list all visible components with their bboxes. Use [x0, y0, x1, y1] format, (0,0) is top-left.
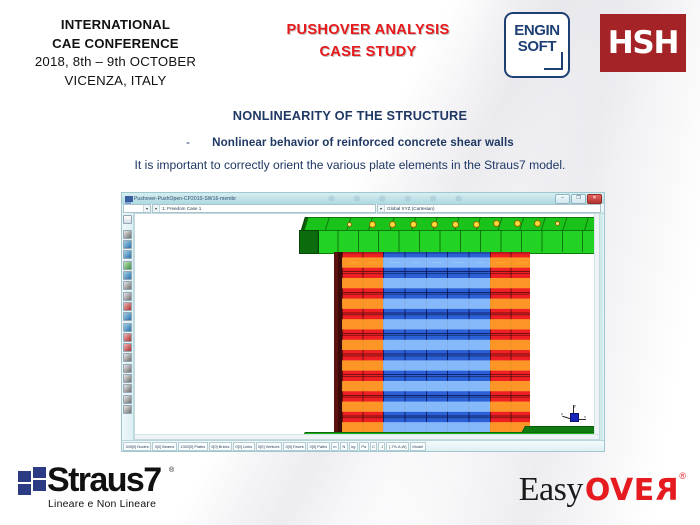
- status-cell-vertices: 0[0] Vertices: [256, 442, 282, 451]
- brick-icon[interactable]: [123, 261, 132, 270]
- conference-dates: 2018, 8th – 9th OCTOBER: [8, 53, 223, 72]
- attribute-icon[interactable]: [123, 364, 132, 373]
- home-icon[interactable]: [123, 405, 132, 414]
- straus7-logo-square: [33, 480, 46, 491]
- straus7-logo-wordmark: Straus7: [47, 461, 161, 500]
- minimize-button[interactable]: –: [555, 194, 570, 204]
- section-heading: NONLINEARITY OF THE STRUCTURE: [0, 108, 700, 123]
- coordinate-system-label: Global XYZ (Cartesian): [385, 206, 435, 211]
- status-cell-mode: Model: [410, 442, 426, 451]
- plate-local-axis-arrows: [342, 252, 383, 437]
- model-viewport[interactable]: y x z: [134, 213, 600, 440]
- status-cell-plates: 1392[0] Plates: [178, 442, 208, 451]
- left-vertical-toolbar[interactable]: [122, 213, 134, 440]
- shear-wall-mesh[interactable]: [334, 252, 530, 437]
- status-cell-beams: 3[0] Beams: [152, 442, 177, 451]
- property-icon[interactable]: [123, 353, 132, 362]
- easyover-registered-mark: ®: [679, 471, 686, 481]
- status-cell-unit-stress: Pa: [359, 442, 369, 451]
- straus7-registered-mark: ®: [169, 467, 174, 474]
- pressure-icon[interactable]: [123, 333, 132, 342]
- enginsoft-logo: ENGIN SOFT: [504, 12, 570, 78]
- window-controls[interactable]: – ❐ ✕: [554, 194, 602, 204]
- chevron-down-icon[interactable]: ▾: [153, 205, 160, 212]
- axis-label-z: z: [561, 412, 563, 416]
- slide-header: INTERNATIONAL CAE CONFERENCE 2018, 8th –…: [0, 0, 700, 95]
- freedom-icon[interactable]: [123, 384, 132, 393]
- view-combo[interactable]: ▾: [123, 204, 151, 213]
- beam-front-mesh-grid: [317, 230, 600, 252]
- node-marker: [347, 222, 352, 227]
- vertical-scrollbar[interactable]: [594, 214, 599, 439]
- status-cell-view-info: [-7%,A,W]: [386, 442, 409, 451]
- status-cell-unit-length: m: [331, 442, 339, 451]
- status-bar: 349[0] Nodes 3[0] Beams 1392[0] Plates 0…: [122, 440, 604, 451]
- vertex-icon[interactable]: [123, 281, 132, 290]
- status-cell-unit-temp: C: [370, 442, 378, 451]
- easyover-logo-flipped-r: R: [655, 473, 679, 508]
- status-cell-unit-force: N: [340, 442, 348, 451]
- coordinate-system-combo[interactable]: ▾ Global XYZ (Cartesian): [377, 204, 601, 213]
- slide-footer: Straus7 ® Lineare e Non Lineare Easy OVE…: [0, 455, 700, 525]
- link-icon[interactable]: [123, 271, 132, 280]
- plate-local-axis-arrows: [490, 252, 530, 437]
- horizontal-scrollbar[interactable]: [135, 434, 599, 439]
- plate-icon[interactable]: [123, 250, 132, 259]
- plate-local-axis-arrows: [383, 252, 490, 437]
- restraint-icon[interactable]: [123, 302, 132, 311]
- wall-center-blue-panel: [383, 252, 490, 437]
- conference-location: VICENZA, ITALY: [8, 72, 223, 91]
- beam-left-end-face: [299, 230, 319, 254]
- status-cell-faces: 0[0] Faces: [283, 442, 306, 451]
- status-cell-nodes: 349[0] Nodes: [123, 442, 151, 451]
- window-title: Pushover-PushOpen-CP2010-SW16-membr: [134, 196, 236, 202]
- node-marker: [555, 221, 560, 226]
- face-icon[interactable]: [123, 292, 132, 301]
- status-cell-bricks: 0[0] Bricks: [209, 442, 232, 451]
- axis-triad-indicator: y x z: [561, 405, 587, 425]
- straus7-logo-square: [18, 484, 31, 495]
- freedom-case-label: 1: Freedom Case 1: [160, 206, 201, 211]
- presentation-title: PUSHOVER ANALYSIS CASE STUDY: [252, 20, 484, 64]
- toolbar-separator: [122, 226, 133, 229]
- wall-right-red-column: [490, 252, 530, 437]
- window-titlebar[interactable]: Pushover-PushOpen-CP2010-SW16-membr – ❐ …: [122, 193, 604, 204]
- axis-label-y: y: [574, 404, 576, 408]
- enginsoft-logo-notch: [544, 52, 563, 70]
- status-cell-links: 0[0] Links: [233, 442, 255, 451]
- straus7-logo-square: [18, 471, 31, 482]
- bullet-text: Nonlinear behavior of reinforced concret…: [212, 136, 514, 149]
- easyover-logo-easy: Easy: [519, 471, 583, 509]
- status-cell-paths: 0[0] Paths: [307, 442, 330, 451]
- conference-info: INTERNATIONAL CAE CONFERENCE 2018, 8th –…: [8, 16, 223, 91]
- group-icon[interactable]: [123, 395, 132, 404]
- straus7-app-icon: [125, 196, 131, 202]
- bullet-line: -Nonlinear behavior of reinforced concre…: [0, 136, 700, 149]
- easyover-logo-over: OVER: [585, 473, 679, 508]
- status-cell-unit-mass: kg: [349, 442, 358, 451]
- axis-label-x: x: [584, 415, 586, 419]
- bullet-dash: -: [186, 136, 212, 149]
- freedom-case-combo[interactable]: ▾ 1: Freedom Case 1: [152, 204, 376, 213]
- easyover-logo-over-text: OVE: [585, 473, 655, 508]
- slide-body-text: NONLINEARITY OF THE STRUCTURE -Nonlinear…: [0, 108, 700, 172]
- conference-line-2: CAE CONFERENCE: [8, 35, 223, 54]
- chevron-down-icon[interactable]: ▾: [378, 205, 385, 212]
- status-cell-unit-energy: J: [378, 442, 385, 451]
- moment-icon[interactable]: [123, 323, 132, 332]
- select-icon[interactable]: [123, 215, 132, 224]
- easyover-logo: Easy OVER ®: [519, 471, 686, 511]
- body-paragraph: It is important to correctly orient the …: [0, 158, 700, 172]
- straus7-application-window: Pushover-PushOpen-CP2010-SW16-membr – ❐ …: [121, 192, 605, 452]
- enginsoft-logo-line-1: ENGIN: [506, 23, 568, 39]
- chevron-down-icon[interactable]: ▾: [143, 205, 150, 212]
- close-button[interactable]: ✕: [587, 194, 602, 204]
- force-icon[interactable]: [123, 312, 132, 321]
- finite-element-model[interactable]: y x z: [135, 214, 599, 439]
- straus7-logo: Straus7 ® Lineare e Non Lineare: [18, 465, 218, 513]
- hsh-logo: HSH: [600, 14, 686, 72]
- node-icon[interactable]: [123, 230, 132, 239]
- presentation-title-line-1: PUSHOVER ANALYSIS: [252, 20, 484, 42]
- conference-line-1: INTERNATIONAL: [8, 16, 223, 35]
- straus7-logo-tagline: Lineare e Non Lineare: [48, 498, 156, 510]
- axis-origin-cube: [570, 413, 579, 422]
- straus7-logo-square: [33, 467, 46, 478]
- maximize-button[interactable]: ❐: [571, 194, 586, 204]
- presentation-title-line-2: CASE STUDY: [252, 42, 484, 64]
- display-icon[interactable]: [123, 374, 132, 383]
- mass-icon[interactable]: [123, 343, 132, 352]
- toolbar-icons-blurred: [236, 193, 554, 204]
- wall-left-red-column: [342, 252, 383, 437]
- beam-icon[interactable]: [123, 240, 132, 249]
